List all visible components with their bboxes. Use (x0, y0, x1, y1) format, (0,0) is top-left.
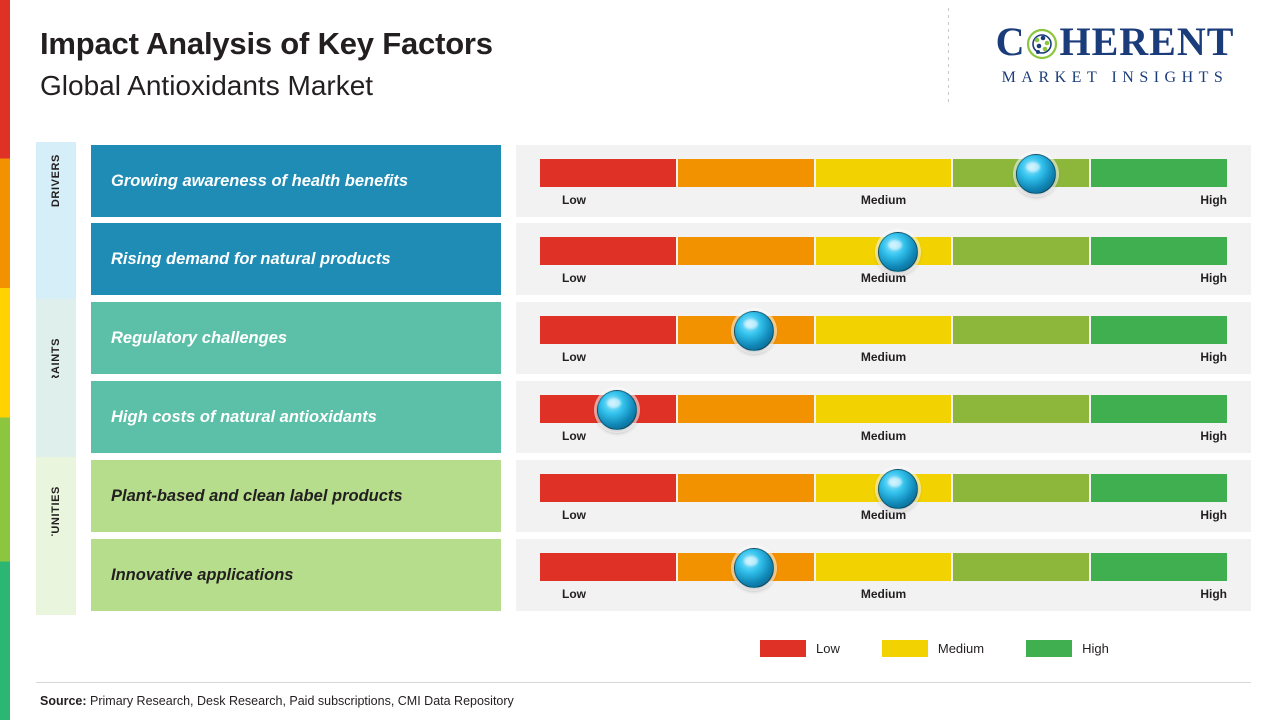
impact-marker (734, 311, 774, 351)
scale-label-medium: Medium (861, 429, 906, 443)
table-row: RESTRAINTS Regulatory challenges Low Med… (36, 299, 1251, 378)
scale-segment-mid-high (953, 474, 1089, 502)
scale-label-high: High (1200, 429, 1227, 443)
table-row: High costs of natural antioxidants Low M… (36, 378, 1251, 457)
brand-name: C HERENT (965, 22, 1265, 62)
scale-segment-medium (816, 159, 952, 187)
scale-labels: Low Medium High (540, 508, 1227, 524)
scale-label-medium: Medium (861, 271, 906, 285)
factor-cell: High costs of natural antioxidants (91, 381, 501, 453)
factor-cell: Innovative applications (91, 539, 501, 611)
left-color-accent-bar (0, 0, 10, 720)
chart-legend: Low Medium High (760, 640, 1109, 657)
scale-label-low: Low (562, 193, 586, 207)
source-label: Source: (40, 694, 87, 708)
scale-label-low: Low (562, 429, 586, 443)
impact-scale: Low Medium High (516, 381, 1251, 453)
scale-segment-high (1091, 395, 1227, 423)
scale-label-low: Low (562, 508, 586, 522)
scale-segment-low (540, 237, 676, 265)
scale-label-high: High (1200, 587, 1227, 601)
legend-item-low: Low (760, 640, 840, 657)
scale-labels: Low Medium High (540, 193, 1227, 209)
scale-label-medium: Medium (861, 587, 906, 601)
impact-scale: Low Medium High (516, 302, 1251, 374)
factor-cell: Rising demand for natural products (91, 223, 501, 295)
scale-label-high: High (1200, 508, 1227, 522)
scale-segment-low (540, 474, 676, 502)
category-cell-drivers: DRIVERS (36, 142, 76, 220)
scale-segment-high (1091, 159, 1227, 187)
scale-labels: Low Medium High (540, 271, 1227, 287)
brand-name-after: HERENT (1059, 19, 1234, 64)
scale-bar (540, 395, 1227, 423)
scale-segment-medium (816, 395, 952, 423)
table-row: DRIVERS Growing awareness of health bene… (36, 142, 1251, 220)
footer-divider (36, 682, 1251, 683)
scale-label-medium: Medium (861, 350, 906, 364)
title-block: Impact Analysis of Key Factors Global An… (40, 26, 493, 102)
legend-item-high: High (1026, 640, 1109, 657)
factor-label: High costs of natural antioxidants (111, 408, 377, 427)
scale-segment-mid-high (953, 316, 1089, 344)
factor-label: Growing awareness of health benefits (111, 172, 408, 191)
impact-scale: Low Medium High (516, 145, 1251, 217)
scale-labels: Low Medium High (540, 350, 1227, 366)
source-text: Primary Research, Desk Research, Paid su… (90, 694, 514, 708)
scale-label-low: Low (562, 587, 586, 601)
page-subtitle: Global Antioxidants Market (40, 69, 493, 102)
impact-rows: DRIVERS Growing awareness of health bene… (36, 142, 1251, 615)
scale-bar (540, 553, 1227, 581)
logo-divider (948, 8, 949, 106)
impact-scale: Low Medium High (516, 460, 1251, 532)
category-cell-opportunities: OPPORTUNITIES (36, 457, 76, 536)
scale-segment-mid-high (953, 395, 1089, 423)
scale-segment-mid-high (953, 237, 1089, 265)
factor-label: Plant-based and clean label products (111, 487, 403, 506)
factor-label: Rising demand for natural products (111, 250, 391, 269)
legend-swatch-high (1026, 640, 1072, 657)
legend-label-low: Low (816, 641, 840, 656)
globe-icon (1025, 22, 1059, 62)
factor-cell: Growing awareness of health benefits (91, 145, 501, 217)
scale-label-medium: Medium (861, 193, 906, 207)
legend-item-medium: Medium (882, 640, 984, 657)
scale-segment-medium (816, 553, 952, 581)
page-title: Impact Analysis of Key Factors (40, 26, 493, 63)
scale-label-low: Low (562, 271, 586, 285)
scale-segment-high (1091, 474, 1227, 502)
impact-marker (1016, 154, 1056, 194)
brand-name-before: C (996, 19, 1026, 64)
category-cell-restraints: RESTRAINTS (36, 299, 76, 378)
scale-segment-low (540, 553, 676, 581)
category-label: DRIVERS (50, 154, 62, 207)
impact-marker (878, 469, 918, 509)
impact-scale: Low Medium High (516, 539, 1251, 611)
impact-scale: Low Medium High (516, 223, 1251, 295)
scale-label-high: High (1200, 350, 1227, 364)
scale-segment-high (1091, 553, 1227, 581)
impact-marker (878, 232, 918, 272)
factor-label: Regulatory challenges (111, 329, 287, 348)
factor-label: Innovative applications (111, 566, 293, 585)
scale-segment-medium (816, 316, 952, 344)
table-row: Rising demand for natural products Low M… (36, 220, 1251, 299)
table-row: OPPORTUNITIES Plant-based and clean labe… (36, 457, 1251, 536)
category-cell-opportunities-2 (36, 536, 76, 615)
scale-segment-low-mid (678, 395, 814, 423)
factor-cell: Plant-based and clean label products (91, 460, 501, 532)
scale-segment-mid-high (953, 553, 1089, 581)
source-note: Source: Primary Research, Desk Research,… (40, 694, 514, 708)
scale-labels: Low Medium High (540, 587, 1227, 603)
scale-bar (540, 159, 1227, 187)
brand-logo: C HERENT MARKET INSIGHTS (965, 22, 1265, 87)
table-row: Innovative applications Low Medium High (36, 536, 1251, 615)
scale-segment-low (540, 159, 676, 187)
scale-label-high: High (1200, 271, 1227, 285)
scale-segment-low-mid (678, 237, 814, 265)
scale-segment-high (1091, 316, 1227, 344)
impact-marker (597, 390, 637, 430)
scale-segment-low (540, 316, 676, 344)
legend-label-high: High (1082, 641, 1109, 656)
impact-marker (734, 548, 774, 588)
legend-label-medium: Medium (938, 641, 984, 656)
factor-cell: Regulatory challenges (91, 302, 501, 374)
scale-label-high: High (1200, 193, 1227, 207)
scale-label-low: Low (562, 350, 586, 364)
legend-swatch-medium (882, 640, 928, 657)
scale-bar (540, 316, 1227, 344)
category-cell-drivers-2 (36, 220, 76, 299)
scale-segment-low-mid (678, 474, 814, 502)
scale-labels: Low Medium High (540, 429, 1227, 445)
category-cell-restraints-2 (36, 378, 76, 457)
scale-segment-low-mid (678, 159, 814, 187)
legend-swatch-low (760, 640, 806, 657)
brand-tagline: MARKET INSIGHTS (965, 69, 1265, 87)
scale-segment-high (1091, 237, 1227, 265)
scale-label-medium: Medium (861, 508, 906, 522)
